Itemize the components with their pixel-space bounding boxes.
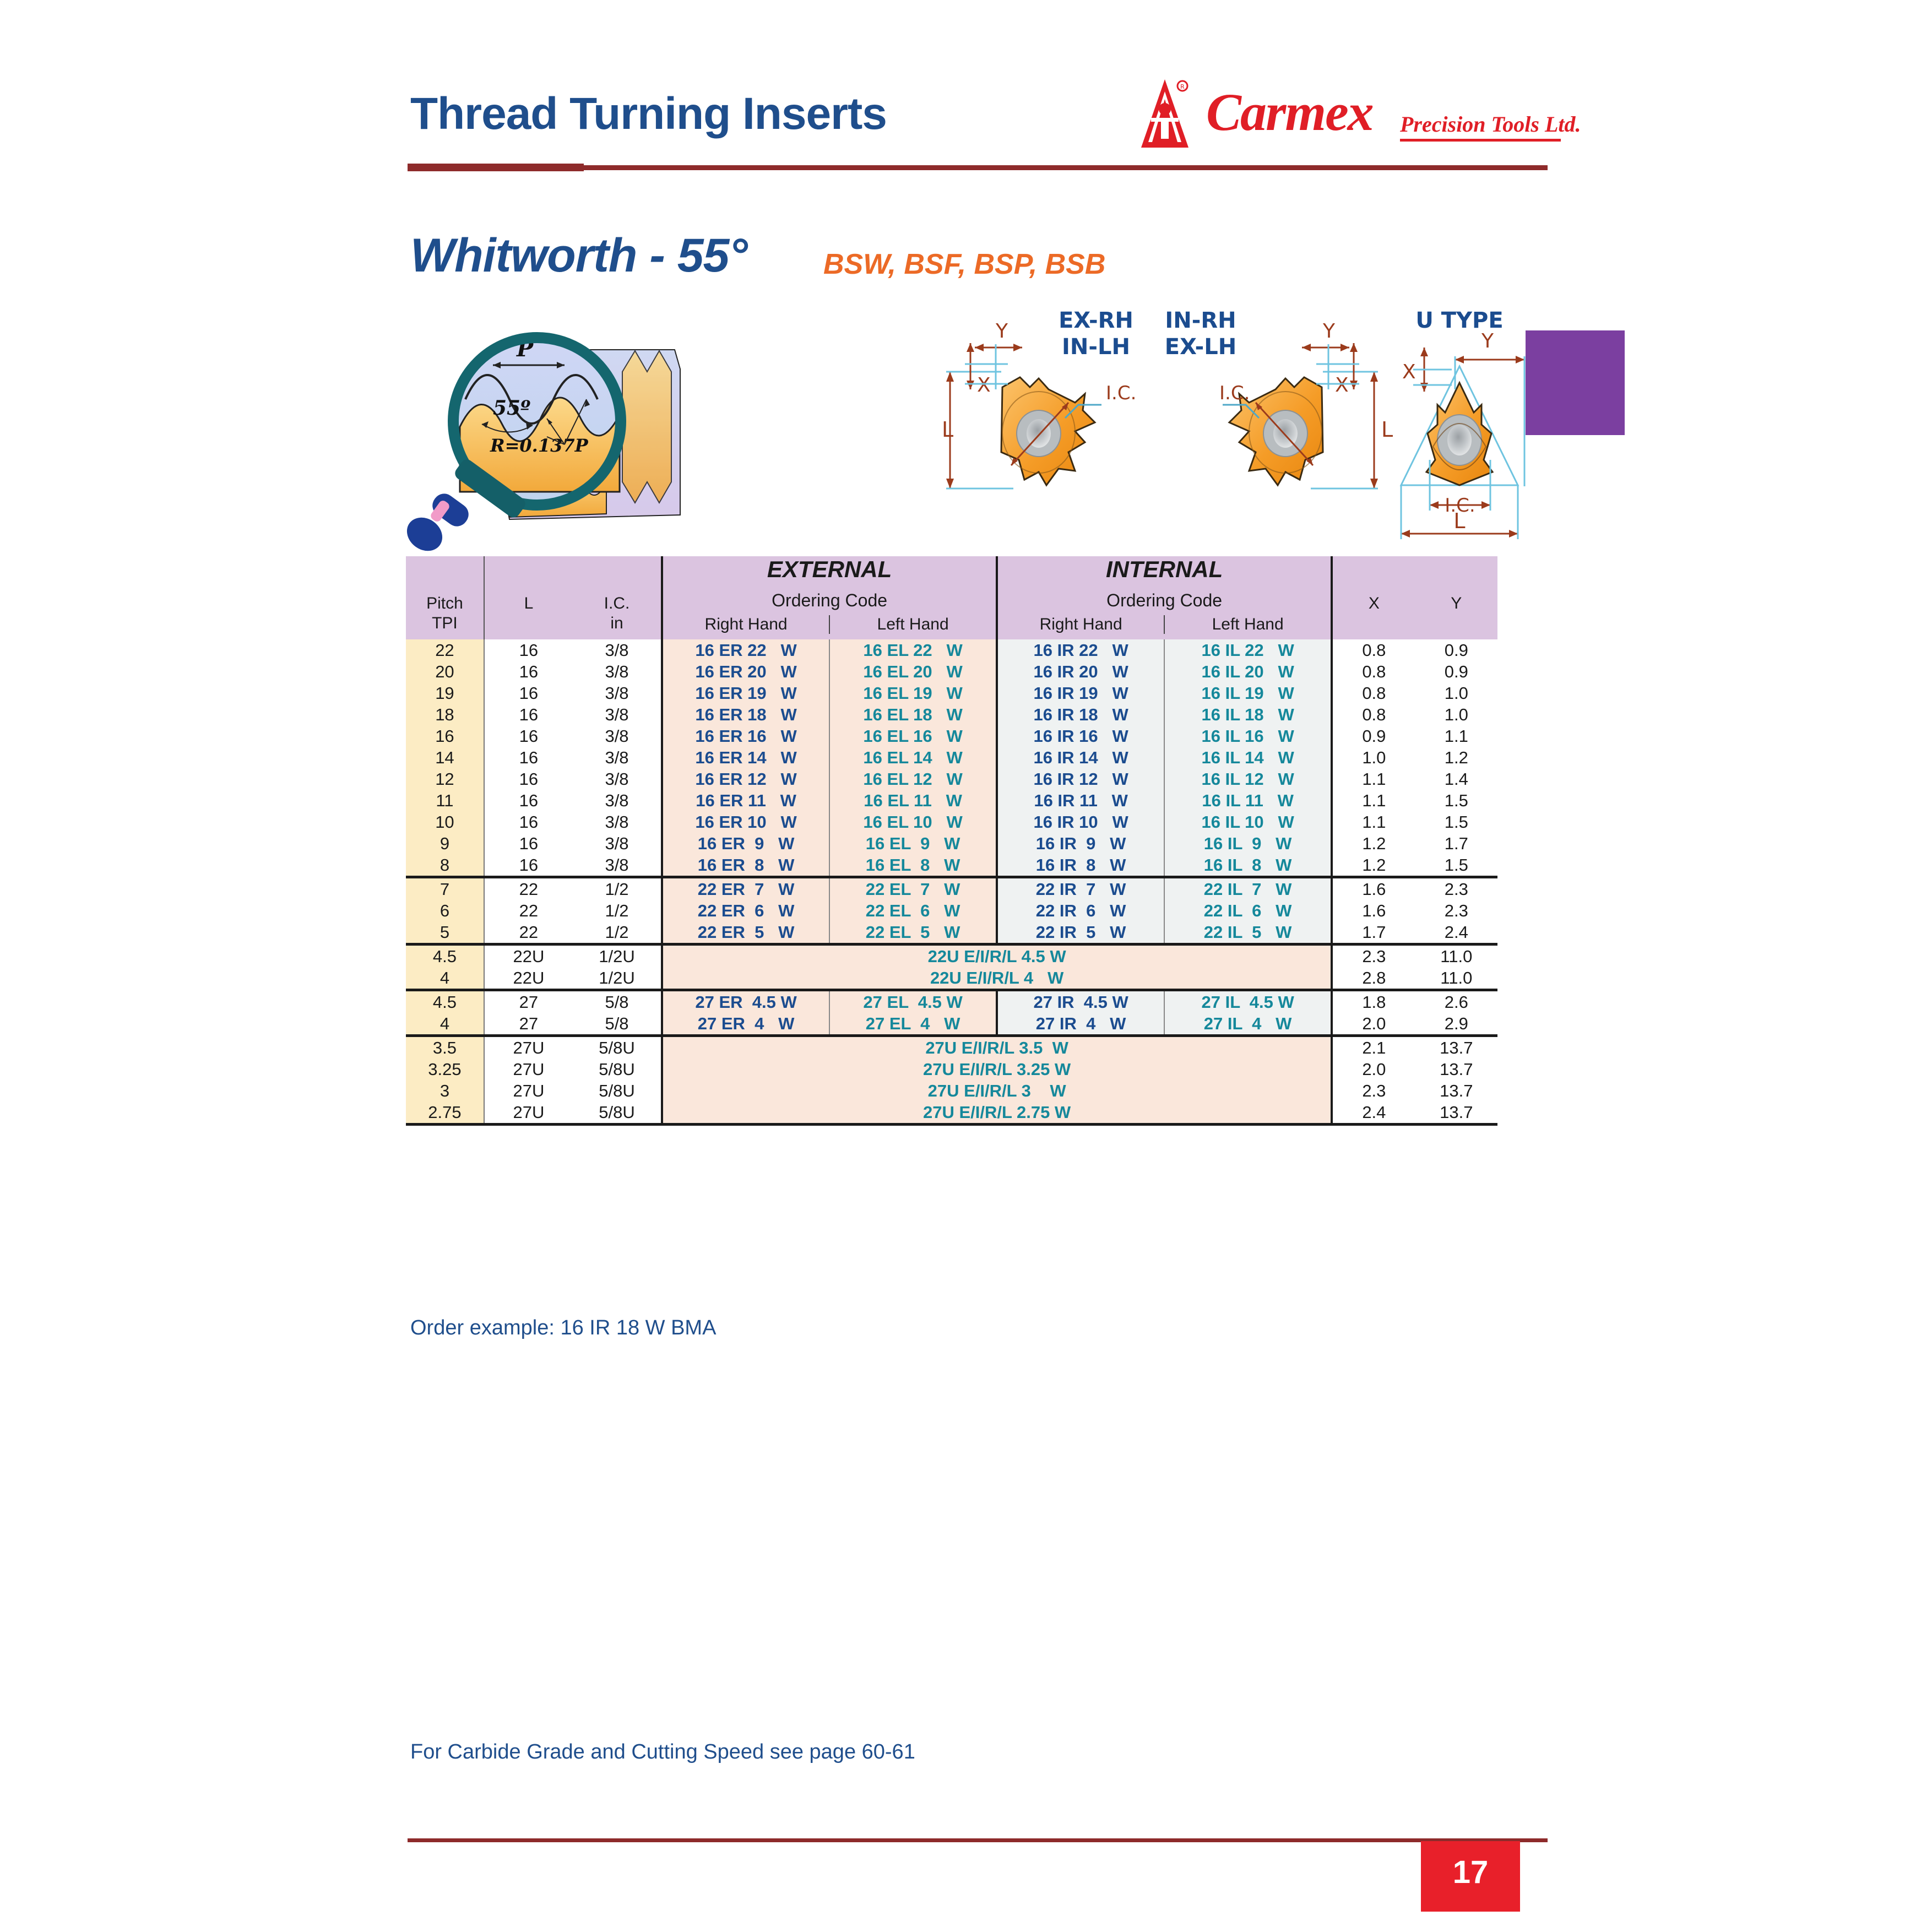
insert-label-ex-lh: EX-LH xyxy=(1165,334,1236,360)
col-header-pitch-line1: Pitch xyxy=(426,594,463,612)
cell-pitch: 4.5 xyxy=(406,945,484,968)
cell-ic: 5/8 xyxy=(573,990,662,1013)
cell-l: 16 xyxy=(484,747,573,768)
cell-x: 1.1 xyxy=(1332,811,1415,833)
cell-y: 1.4 xyxy=(1415,768,1497,790)
cell-l: 27 xyxy=(484,1013,573,1036)
cell-l: 22 xyxy=(484,900,573,921)
cell-internal-left-hand: 16 IL 9 W xyxy=(1164,833,1332,854)
cell-external-right-hand: 27 ER 4.5 W xyxy=(662,990,829,1013)
cell-y: 1.5 xyxy=(1415,790,1497,811)
cell-pitch: 2.75 xyxy=(406,1101,484,1125)
cell-internal-left-hand: 16 IL 20 W xyxy=(1164,661,1332,682)
table-row: 12163/816 ER 12 W16 EL 12 W16 IR 12 W16 … xyxy=(406,768,1497,790)
cell-external-left-hand: 16 EL 20 W xyxy=(829,661,997,682)
cell-pitch: 20 xyxy=(406,661,484,682)
cell-internal-right-hand: 22 IR 5 W xyxy=(997,921,1164,945)
dim-l-right: L xyxy=(1453,509,1465,533)
insert-label-ex-rh: EX-RH xyxy=(1059,308,1133,333)
cell-external-right-hand: 16 ER 9 W xyxy=(662,833,829,854)
table-row: 11163/816 ER 11 W16 EL 11 W16 IR 11 W16 … xyxy=(406,790,1497,811)
external-right-hand-label: Right Hand xyxy=(663,615,829,634)
cell-internal-right-hand: 16 IR 19 W xyxy=(997,682,1164,704)
cell-ic: 3/8 xyxy=(573,833,662,854)
cell-internal-left-hand: 22 IL 6 W xyxy=(1164,900,1332,921)
carmex-logo: R Carmex Precision Tools Ltd. xyxy=(1129,77,1548,154)
cell-pitch: 3.5 xyxy=(406,1036,484,1059)
table-row: 2.7527U5/8U27U E/I/R/L 2.75 W2.413.7 xyxy=(406,1101,1497,1125)
table-row: 4.5275/827 ER 4.5 W27 EL 4.5 W27 IR 4.5 … xyxy=(406,990,1497,1013)
cell-y: 2.3 xyxy=(1415,877,1497,900)
cell-internal-right-hand: 16 IR 8 W xyxy=(997,854,1164,877)
page-number: 17 xyxy=(1421,1854,1520,1891)
insert-label-in-rh: IN-RH xyxy=(1165,308,1236,333)
cell-x: 2.3 xyxy=(1332,945,1415,968)
cell-ic: 3/8 xyxy=(573,639,662,661)
cell-external-right-hand: 16 ER 12 W xyxy=(662,768,829,790)
col-header-ic-line2: in xyxy=(610,614,623,632)
col-header-ic-line1: I.C. xyxy=(604,594,630,612)
cell-x: 1.2 xyxy=(1332,854,1415,877)
col-header-l-text: L xyxy=(524,594,534,612)
cell-pitch: 9 xyxy=(406,833,484,854)
dim-x-left: X xyxy=(977,374,991,397)
cell-x: 0.8 xyxy=(1332,661,1415,682)
cell-external-right-hand: 16 ER 14 W xyxy=(662,747,829,768)
cell-pitch: 8 xyxy=(406,854,484,877)
internal-left-hand-label: Left Hand xyxy=(1164,615,1331,634)
cell-external-left-hand: 16 EL 8 W xyxy=(829,854,997,877)
table-body: 22163/816 ER 22 W16 EL 22 W16 IR 22 W16 … xyxy=(406,639,1497,1125)
cell-l: 16 xyxy=(484,639,573,661)
cell-ic: 5/8U xyxy=(573,1101,662,1125)
cell-internal-right-hand: 16 IR 16 W xyxy=(997,725,1164,747)
cell-external-right-hand: 27 ER 4 W xyxy=(662,1013,829,1036)
table-row: 7221/222 ER 7 W22 EL 7 W22 IR 7 W22 IL 7… xyxy=(406,877,1497,900)
cell-pitch: 12 xyxy=(406,768,484,790)
cell-ic: 3/8 xyxy=(573,747,662,768)
cell-ic: 3/8 xyxy=(573,704,662,725)
table-row: 6221/222 ER 6 W22 EL 6 W22 IR 6 W22 IL 6… xyxy=(406,900,1497,921)
cell-x: 1.1 xyxy=(1332,790,1415,811)
carbide-grade-note: For Carbide Grade and Cutting Speed see … xyxy=(410,1740,915,1764)
col-header-l: L xyxy=(484,556,573,639)
cell-external-right-hand: 22 ER 6 W xyxy=(662,900,829,921)
cell-external-left-hand: 16 EL 18 W xyxy=(829,704,997,725)
cell-merged-ordering-code: 22U E/I/R/L 4.5 W xyxy=(662,945,1332,968)
cell-ic: 3/8 xyxy=(573,682,662,704)
dim-x-right: X xyxy=(1402,361,1416,383)
cell-external-right-hand: 16 ER 19 W xyxy=(662,682,829,704)
carmex-brand-name: Carmex xyxy=(1206,82,1373,143)
cell-y: 11.0 xyxy=(1415,945,1497,968)
cell-internal-right-hand: 16 IR 14 W xyxy=(997,747,1164,768)
cell-internal-right-hand: 27 IR 4 W xyxy=(997,1013,1164,1036)
cell-l: 16 xyxy=(484,768,573,790)
cell-external-left-hand: 16 EL 19 W xyxy=(829,682,997,704)
dim-ic-left: I.C. xyxy=(1106,382,1136,404)
cell-external-right-hand: 16 ER 11 W xyxy=(662,790,829,811)
col-header-external: EXTERNAL Ordering Code Right Hand Left H… xyxy=(662,556,997,639)
cell-x: 2.8 xyxy=(1332,967,1415,990)
cell-l: 27 xyxy=(484,990,573,1013)
carmex-logo-icon: R xyxy=(1129,77,1201,151)
cell-x: 2.3 xyxy=(1332,1080,1415,1101)
carmex-brand-tagline: Precision Tools Ltd. xyxy=(1400,111,1581,137)
cell-x: 2.1 xyxy=(1332,1036,1415,1059)
section-subtitle: BSW, BSF, BSP, BSB xyxy=(823,248,1105,281)
cell-internal-left-hand: 27 IL 4 W xyxy=(1164,1013,1332,1036)
cell-pitch: 4 xyxy=(406,1013,484,1036)
table-row: 5221/222 ER 5 W22 EL 5 W22 IR 5 W22 IL 5… xyxy=(406,921,1497,945)
cell-internal-right-hand: 22 IR 7 W xyxy=(997,877,1164,900)
table-row: 14163/816 ER 14 W16 EL 14 W16 IR 14 W16 … xyxy=(406,747,1497,768)
cell-external-left-hand: 16 EL 12 W xyxy=(829,768,997,790)
cell-merged-ordering-code: 27U E/I/R/L 3.25 W xyxy=(662,1059,1332,1080)
cell-l: 16 xyxy=(484,854,573,877)
cell-y: 11.0 xyxy=(1415,967,1497,990)
cell-internal-right-hand: 16 IR 18 W xyxy=(997,704,1164,725)
cell-y: 0.9 xyxy=(1415,639,1497,661)
col-header-x: X xyxy=(1332,556,1415,639)
dim-x-mid: X xyxy=(1335,374,1349,397)
order-example: Order example: 16 IR 18 W BMA xyxy=(410,1316,716,1340)
cell-x: 0.8 xyxy=(1332,682,1415,704)
table-row: 18163/816 ER 18 W16 EL 18 W16 IR 18 W16 … xyxy=(406,704,1497,725)
cell-external-left-hand: 16 EL 10 W xyxy=(829,811,997,833)
cell-internal-left-hand: 16 IL 11 W xyxy=(1164,790,1332,811)
dim-y-mid: Y xyxy=(1322,320,1336,343)
table-row: 19163/816 ER 19 W16 EL 19 W16 IR 19 W16 … xyxy=(406,682,1497,704)
col-header-x-text: X xyxy=(1369,594,1380,612)
internal-ordering-code-label: Ordering Code xyxy=(998,590,1331,611)
table-row: 422U1/2U22U E/I/R/L 4 W2.811.0 xyxy=(406,967,1497,990)
cell-l: 27U xyxy=(484,1101,573,1125)
cell-pitch: 3 xyxy=(406,1080,484,1101)
cell-internal-right-hand: 16 IR 10 W xyxy=(997,811,1164,833)
cell-x: 1.1 xyxy=(1332,768,1415,790)
cell-external-right-hand: 16 ER 20 W xyxy=(662,661,829,682)
cell-y: 13.7 xyxy=(1415,1059,1497,1080)
cell-external-right-hand: 16 ER 18 W xyxy=(662,704,829,725)
cell-x: 1.7 xyxy=(1332,921,1415,945)
table-row: 3.527U5/8U27U E/I/R/L 3.5 W2.113.7 xyxy=(406,1036,1497,1059)
cell-x: 0.8 xyxy=(1332,704,1415,725)
cell-internal-right-hand: 27 IR 4.5 W xyxy=(997,990,1164,1013)
cell-internal-left-hand: 16 IL 14 W xyxy=(1164,747,1332,768)
cell-y: 2.3 xyxy=(1415,900,1497,921)
cell-x: 2.4 xyxy=(1332,1101,1415,1125)
cell-l: 22 xyxy=(484,921,573,945)
dim-l-left: L xyxy=(942,417,953,442)
cell-ic: 5/8U xyxy=(573,1080,662,1101)
cell-l: 22U xyxy=(484,967,573,990)
dim-y-left: Y xyxy=(995,320,1008,343)
svg-text:55º: 55º xyxy=(493,397,530,420)
cell-l: 27U xyxy=(484,1080,573,1101)
table-row: 10163/816 ER 10 W16 EL 10 W16 IR 10 W16 … xyxy=(406,811,1497,833)
cell-pitch: 18 xyxy=(406,704,484,725)
cell-external-left-hand: 22 EL 5 W xyxy=(829,921,997,945)
cell-external-left-hand: 27 EL 4 W xyxy=(829,1013,997,1036)
cell-l: 22 xyxy=(484,877,573,900)
cell-internal-left-hand: 16 IL 8 W xyxy=(1164,854,1332,877)
cell-external-right-hand: 16 ER 16 W xyxy=(662,725,829,747)
cell-y: 1.7 xyxy=(1415,833,1497,854)
internal-right-hand-label: Right Hand xyxy=(998,615,1164,634)
cell-y: 13.7 xyxy=(1415,1036,1497,1059)
cell-x: 2.0 xyxy=(1332,1059,1415,1080)
cell-l: 22U xyxy=(484,945,573,968)
thread-profile-figure: P 55º R=0.137P xyxy=(405,317,697,553)
footer-rule xyxy=(408,1838,1548,1842)
cell-internal-right-hand: 16 IR 12 W xyxy=(997,768,1164,790)
cell-external-right-hand: 22 ER 5 W xyxy=(662,921,829,945)
cell-l: 16 xyxy=(484,790,573,811)
cell-l: 16 xyxy=(484,811,573,833)
cell-x: 0.8 xyxy=(1332,639,1415,661)
cell-merged-ordering-code: 27U E/I/R/L 3 W xyxy=(662,1080,1332,1101)
cell-l: 16 xyxy=(484,725,573,747)
insert-type-figures: EX-RH IN-LH L X Y xyxy=(931,295,1548,548)
cell-external-right-hand: 16 ER 22 W xyxy=(662,639,829,661)
cell-y: 2.9 xyxy=(1415,1013,1497,1036)
cell-y: 1.0 xyxy=(1415,704,1497,725)
cell-y: 13.7 xyxy=(1415,1080,1497,1101)
cell-external-left-hand: 16 EL 22 W xyxy=(829,639,997,661)
svg-text:R=0.137P: R=0.137P xyxy=(490,435,589,456)
cell-y: 1.0 xyxy=(1415,682,1497,704)
cell-l: 27U xyxy=(484,1036,573,1059)
cell-pitch: 4.5 xyxy=(406,990,484,1013)
cell-internal-left-hand: 16 IL 12 W xyxy=(1164,768,1332,790)
header-rule-accent xyxy=(408,164,584,171)
table-row: 16163/816 ER 16 W16 EL 16 W16 IR 16 W16 … xyxy=(406,725,1497,747)
cell-internal-left-hand: 16 IL 22 W xyxy=(1164,639,1332,661)
cell-x: 0.9 xyxy=(1332,725,1415,747)
cell-internal-right-hand: 16 IR 11 W xyxy=(997,790,1164,811)
cell-ic: 3/8 xyxy=(573,811,662,833)
cell-ic: 1/2 xyxy=(573,921,662,945)
cell-ic: 3/8 xyxy=(573,790,662,811)
section-title: Whitworth - 55° xyxy=(410,229,747,283)
cell-l: 16 xyxy=(484,661,573,682)
cell-y: 1.5 xyxy=(1415,854,1497,877)
dim-ic-mid: I.C. xyxy=(1219,382,1250,404)
cell-external-left-hand: 16 EL 9 W xyxy=(829,833,997,854)
cell-internal-right-hand: 16 IR 9 W xyxy=(997,833,1164,854)
cell-pitch: 14 xyxy=(406,747,484,768)
cell-ic: 1/2U xyxy=(573,945,662,968)
cell-internal-right-hand: 16 IR 22 W xyxy=(997,639,1164,661)
cell-pitch: 11 xyxy=(406,790,484,811)
table-row: 20163/816 ER 20 W16 EL 20 W16 IR 20 W16 … xyxy=(406,661,1497,682)
cell-x: 2.0 xyxy=(1332,1013,1415,1036)
cell-ic: 3/8 xyxy=(573,854,662,877)
cell-external-left-hand: 16 EL 11 W xyxy=(829,790,997,811)
cell-internal-left-hand: 16 IL 19 W xyxy=(1164,682,1332,704)
cell-pitch: 19 xyxy=(406,682,484,704)
cell-internal-right-hand: 16 IR 20 W xyxy=(997,661,1164,682)
catalog-page: Thread Turning Inserts R Carmex Precisio… xyxy=(0,0,1932,1932)
table-row: 8163/816 ER 8 W16 EL 8 W16 IR 8 W16 IL 8… xyxy=(406,854,1497,877)
page-title: Thread Turning Inserts xyxy=(410,88,887,140)
cell-pitch: 22 xyxy=(406,639,484,661)
external-label: EXTERNAL xyxy=(663,556,996,583)
cell-l: 16 xyxy=(484,682,573,704)
dim-l-mid: L xyxy=(1381,417,1393,442)
internal-label: INTERNAL xyxy=(998,556,1331,583)
dim-y-right: Y xyxy=(1481,330,1494,352)
cell-pitch: 10 xyxy=(406,811,484,833)
col-header-internal: INTERNAL Ordering Code Right Hand Left H… xyxy=(997,556,1332,639)
cell-y: 1.5 xyxy=(1415,811,1497,833)
cell-ic: 3/8 xyxy=(573,725,662,747)
cell-external-right-hand: 16 ER 8 W xyxy=(662,854,829,877)
cell-y: 0.9 xyxy=(1415,661,1497,682)
cell-ic: 5/8 xyxy=(573,1013,662,1036)
cell-l: 27U xyxy=(484,1059,573,1080)
external-left-hand-label: Left Hand xyxy=(829,615,996,634)
external-ordering-code-label: Ordering Code xyxy=(663,590,996,611)
cell-internal-left-hand: 16 IL 18 W xyxy=(1164,704,1332,725)
cell-pitch: 3.25 xyxy=(406,1059,484,1080)
cell-x: 1.0 xyxy=(1332,747,1415,768)
cell-internal-left-hand: 22 IL 5 W xyxy=(1164,921,1332,945)
table-row: 4275/827 ER 4 W27 EL 4 W27 IR 4 W27 IL 4… xyxy=(406,1013,1497,1036)
cell-pitch: 7 xyxy=(406,877,484,900)
cell-pitch: 5 xyxy=(406,921,484,945)
cell-external-right-hand: 16 ER 10 W xyxy=(662,811,829,833)
cell-internal-left-hand: 16 IL 10 W xyxy=(1164,811,1332,833)
cell-ic: 1/2U xyxy=(573,967,662,990)
col-header-pitch-line2: TPI xyxy=(432,614,458,632)
cell-ic: 1/2 xyxy=(573,900,662,921)
cell-l: 16 xyxy=(484,833,573,854)
cell-x: 1.6 xyxy=(1332,900,1415,921)
svg-text:R: R xyxy=(1180,83,1185,90)
cell-y: 2.4 xyxy=(1415,921,1497,945)
table-row: 9163/816 ER 9 W16 EL 9 W16 IR 9 W16 IL 9… xyxy=(406,833,1497,854)
cell-x: 1.8 xyxy=(1332,990,1415,1013)
cell-y: 1.1 xyxy=(1415,725,1497,747)
table-row: 327U5/8U27U E/I/R/L 3 W2.313.7 xyxy=(406,1080,1497,1101)
col-header-y-text: Y xyxy=(1451,594,1462,612)
cell-merged-ordering-code: 22U E/I/R/L 4 W xyxy=(662,967,1332,990)
cell-internal-right-hand: 22 IR 6 W xyxy=(997,900,1164,921)
cell-l: 16 xyxy=(484,704,573,725)
cell-ic: 5/8U xyxy=(573,1059,662,1080)
cell-internal-left-hand: 27 IL 4.5 W xyxy=(1164,990,1332,1013)
cell-external-left-hand: 16 EL 16 W xyxy=(829,725,997,747)
col-header-pitch: Pitch TPI xyxy=(406,556,484,639)
cell-external-right-hand: 22 ER 7 W xyxy=(662,877,829,900)
cell-merged-ordering-code: 27U E/I/R/L 2.75 W xyxy=(662,1101,1332,1125)
cell-external-left-hand: 22 EL 6 W xyxy=(829,900,997,921)
cell-x: 1.2 xyxy=(1332,833,1415,854)
table-row: 4.522U1/2U22U E/I/R/L 4.5 W2.311.0 xyxy=(406,945,1497,968)
cell-pitch: 4 xyxy=(406,967,484,990)
cell-ic: 3/8 xyxy=(573,661,662,682)
cell-internal-left-hand: 22 IL 7 W xyxy=(1164,877,1332,900)
carmex-tagline-rule xyxy=(1400,139,1561,142)
insert-ordering-table: Pitch TPI L I.C. in EXTERNAL Ordering Co… xyxy=(406,556,1497,1126)
col-header-ic: I.C. in xyxy=(573,556,662,639)
cell-pitch: 6 xyxy=(406,900,484,921)
cell-ic: 1/2 xyxy=(573,877,662,900)
cell-external-left-hand: 16 EL 14 W xyxy=(829,747,997,768)
cell-x: 1.6 xyxy=(1332,877,1415,900)
cell-pitch: 16 xyxy=(406,725,484,747)
table-row: 22163/816 ER 22 W16 EL 22 W16 IR 22 W16 … xyxy=(406,639,1497,661)
insert-label-in-lh: IN-LH xyxy=(1062,334,1130,360)
cell-external-left-hand: 27 EL 4.5 W xyxy=(829,990,997,1013)
cell-merged-ordering-code: 27U E/I/R/L 3.5 W xyxy=(662,1036,1332,1059)
cell-ic: 5/8U xyxy=(573,1036,662,1059)
cell-internal-left-hand: 16 IL 16 W xyxy=(1164,725,1332,747)
cell-external-left-hand: 22 EL 7 W xyxy=(829,877,997,900)
cell-y: 1.2 xyxy=(1415,747,1497,768)
table-header-row: Pitch TPI L I.C. in EXTERNAL Ordering Co… xyxy=(406,556,1497,639)
col-header-y: Y xyxy=(1415,556,1497,639)
table-row: 3.2527U5/8U27U E/I/R/L 3.25 W2.013.7 xyxy=(406,1059,1497,1080)
cell-y: 2.6 xyxy=(1415,990,1497,1013)
cell-y: 13.7 xyxy=(1415,1101,1497,1125)
cell-ic: 3/8 xyxy=(573,768,662,790)
